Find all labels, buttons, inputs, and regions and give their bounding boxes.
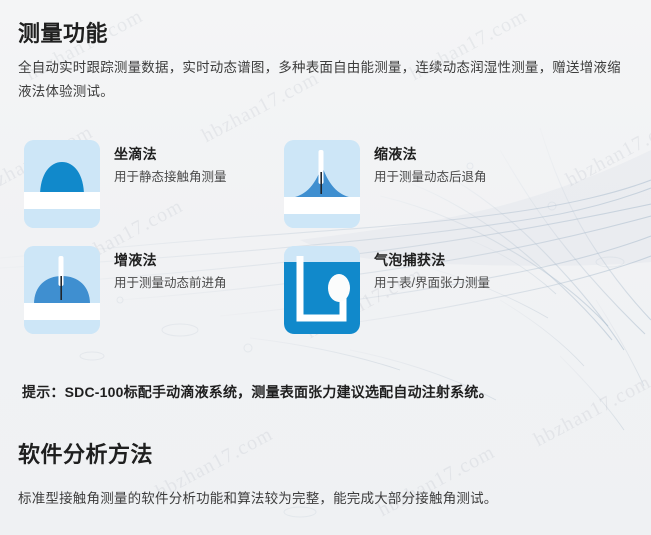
method-card-receding-drop[interactable]: 缩液法 用于测量动态后退角	[284, 140, 624, 228]
sessile-drop-icon	[24, 140, 100, 228]
receding-drop-icon	[284, 140, 360, 228]
method-text: 坐滴法 用于静态接触角测量	[114, 140, 227, 188]
method-card-advancing-drop[interactable]: 增液法 用于测量动态前进角	[24, 246, 284, 334]
page-background: hbzhan17.com hbzhan17.com hbzhan17.com h…	[0, 0, 651, 535]
software-section-title: 软件分析方法	[18, 437, 153, 469]
advancing-drop-icon	[24, 246, 100, 334]
method-title: 增液法	[114, 250, 227, 270]
method-description: 用于静态接触角测量	[114, 167, 227, 188]
page-title: 测量功能	[18, 16, 108, 48]
method-description: 用于测量动态前进角	[114, 273, 227, 294]
method-text: 气泡捕获法 用于表/界面张力测量	[374, 246, 490, 294]
method-title: 气泡捕获法	[374, 250, 490, 270]
method-description: 用于测量动态后退角	[374, 167, 487, 188]
method-title: 坐滴法	[114, 144, 227, 164]
software-description: 标准型接触角测量的软件分析功能和算法较为完整，能完成大部分接触角测试。	[18, 487, 632, 511]
method-text: 缩液法 用于测量动态后退角	[374, 140, 487, 188]
method-card-captive-bubble[interactable]: 气泡捕获法 用于表/界面张力测量	[284, 246, 624, 334]
tip-note: 提示：SDC-100标配手动滴液系统，测量表面张力建议选配自动注射系统。	[22, 382, 632, 402]
method-description: 用于表/界面张力测量	[374, 273, 490, 294]
method-grid: 坐滴法 用于静态接触角测量 缩液法 用于测量动态后	[24, 140, 624, 334]
method-card-sessile-drop[interactable]: 坐滴法 用于静态接触角测量	[24, 140, 284, 228]
measurement-description: 全自动实时跟踪测量数据，实时动态谱图，多种表面自由能测量，连续动态润湿性测量，赠…	[18, 56, 632, 104]
content-root: 测量功能 全自动实时跟踪测量数据，实时动态谱图，多种表面自由能测量，连续动态润湿…	[0, 0, 651, 535]
captive-bubble-icon	[284, 246, 360, 334]
method-title: 缩液法	[374, 144, 487, 164]
method-text: 增液法 用于测量动态前进角	[114, 246, 227, 294]
